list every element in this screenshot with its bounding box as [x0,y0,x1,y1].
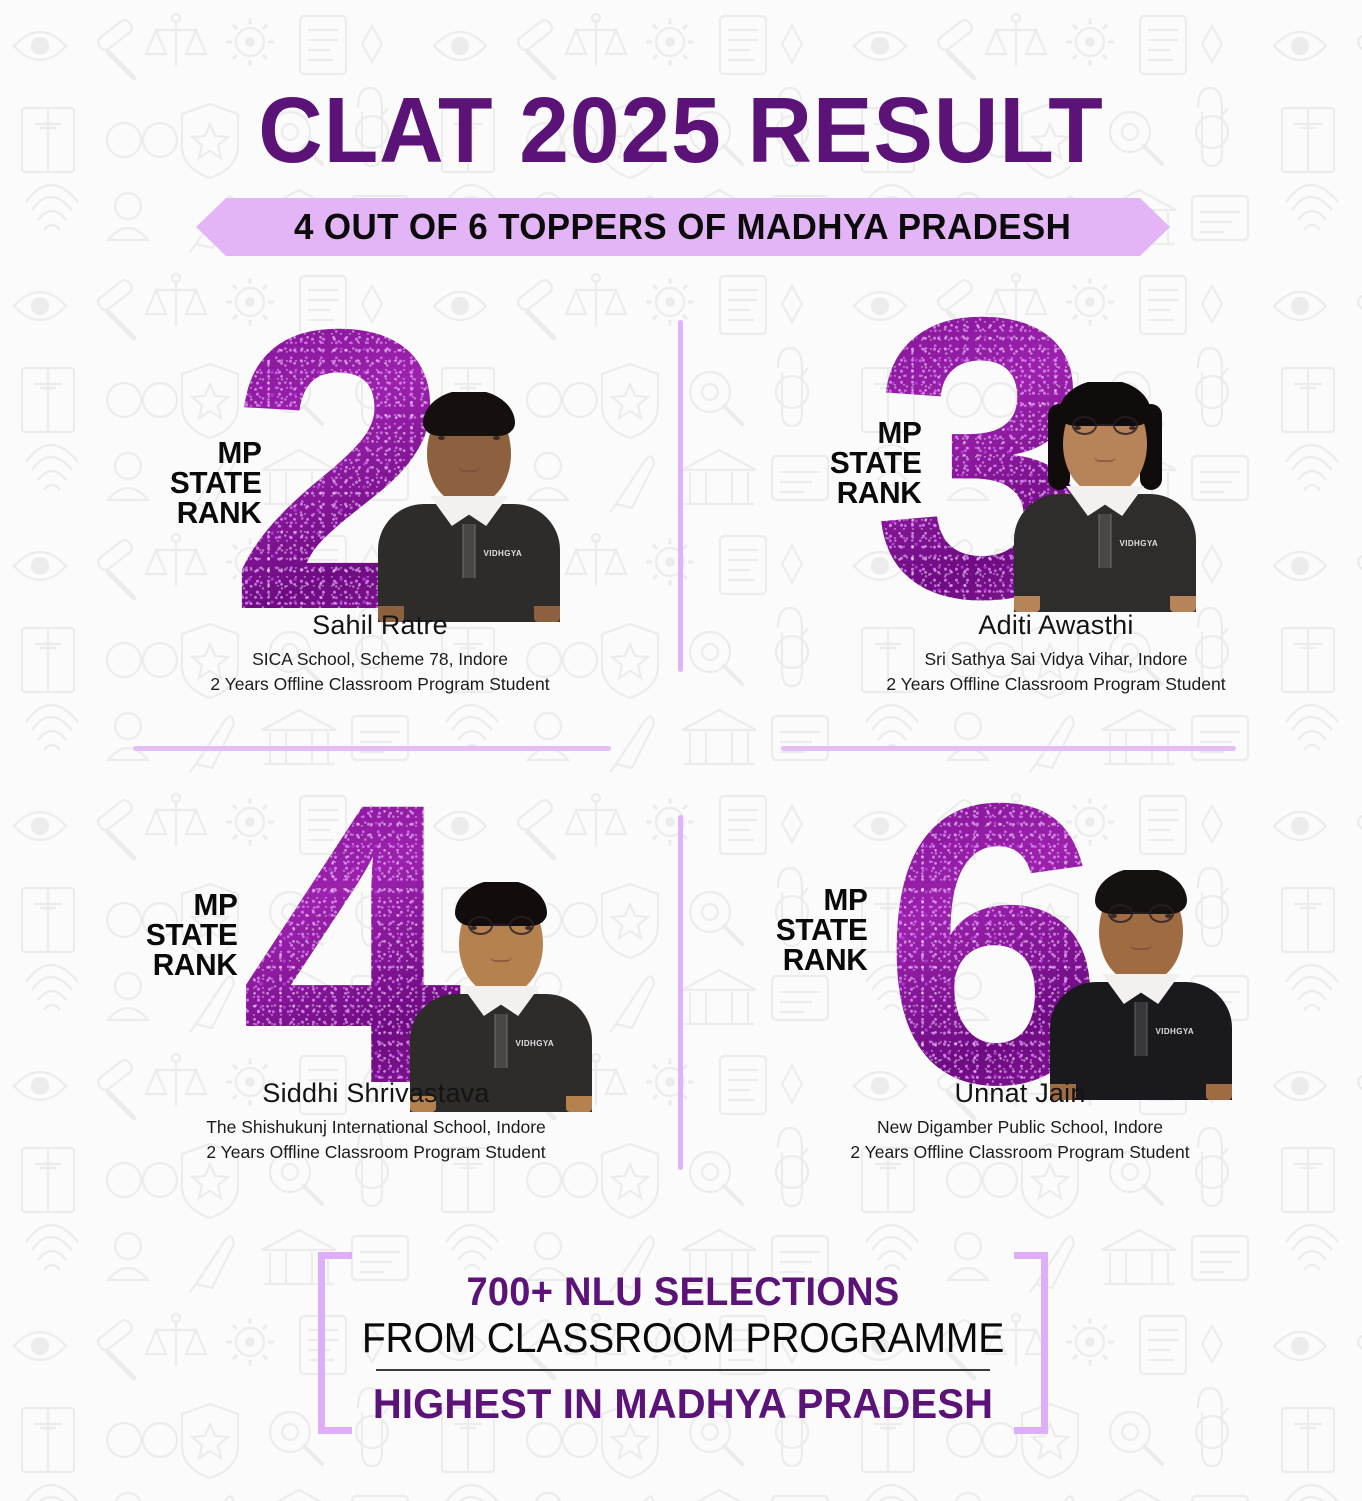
rank-label: MP STATE RANK [776,885,868,975]
rank-label-line1: MP [830,418,922,448]
rank-label-line1: MP [776,885,868,915]
topper-card: MP STATE RANK 3 VIDHGYA Aditi Awasthi Sr… [800,320,1280,700]
student-photo: VIDHGYA [376,392,562,622]
rank-label-line3: RANK [146,950,238,980]
rank-label-line1: MP [146,890,238,920]
topper-card: MP STATE RANK 2 VIDHGYA Sahil Ratre SICA… [140,320,620,700]
student-program: 2 Years Offline Classroom Program Studen… [140,672,620,697]
banner-divider-rule [376,1369,990,1371]
nlu-selections-headline: 700+ NLU SELECTIONS [336,1270,1030,1315]
student-program: 2 Years Offline Classroom Program Studen… [780,1140,1260,1165]
student-caption: Sahil Ratre SICA School, Scheme 78, Indo… [140,610,620,698]
vertical-divider-bottom [678,815,683,1170]
rank-label-line3: RANK [830,478,922,508]
shirt-logo: VIDHGYA [515,1039,554,1048]
topper-card: MP STATE RANK 6 VIDHGYA Unnat Jain New D… [750,800,1230,1180]
rank-label-line3: RANK [776,945,868,975]
rank-label-line3: RANK [170,498,262,528]
shirt-logo: VIDHGYA [483,549,522,558]
shirt-logo: VIDHGYA [1119,539,1158,548]
topper-card: MP STATE RANK 4 VIDHGYA Siddhi Shrivasta… [110,800,590,1180]
student-photo: VIDHGYA [1048,870,1234,1100]
highest-in-mp-text: HIGHEST IN MADHYA PRADESH [336,1380,1030,1428]
rank-label-line2: STATE [146,920,238,950]
student-program: 2 Years Offline Classroom Program Studen… [816,672,1296,697]
student-school: SICA School, Scheme 78, Indore [140,647,620,672]
bottom-banner: 700+ NLU SELECTIONS FROM CLASSROOM PROGR… [318,1252,1048,1434]
poster-root: CLAT 2025 RESULT 4 OUT OF 6 TOPPERS OF M… [0,0,1362,1501]
student-name: Unnat Jain [780,1078,1260,1109]
student-school: Sri Sathya Sai Vidya Vihar, Indore [816,647,1296,672]
student-name: Aditi Awasthi [816,610,1296,641]
student-caption: Aditi Awasthi Sri Sathya Sai Vidya Vihar… [816,610,1296,698]
student-school: New Digamber Public School, Indore [780,1115,1260,1140]
shirt-logo: VIDHGYA [1155,1027,1194,1036]
student-school: The Shishukunj International School, Ind… [136,1115,616,1140]
rank-label-line2: STATE [830,448,922,478]
student-name: Siddhi Shrivastava [136,1078,616,1109]
rank-label-line2: STATE [776,915,868,945]
page-title: CLAT 2025 RESULT [27,84,1335,177]
rank-label: MP STATE RANK [830,418,922,508]
rank-label-line2: STATE [170,468,262,498]
student-caption: Siddhi Shrivastava The Shishukunj Intern… [136,1078,616,1166]
rank-label: MP STATE RANK [146,890,238,980]
rank-label: MP STATE RANK [170,438,262,528]
vertical-divider-top [678,320,683,672]
student-name: Sahil Ratre [140,610,620,641]
classroom-programme-text: FROM CLASSROOM PROGRAMME [344,1314,1023,1362]
student-photo: VIDHGYA [1012,382,1198,612]
student-caption: Unnat Jain New Digamber Public School, I… [780,1078,1260,1166]
rank-label-line1: MP [170,438,262,468]
student-program: 2 Years Offline Classroom Program Studen… [136,1140,616,1165]
